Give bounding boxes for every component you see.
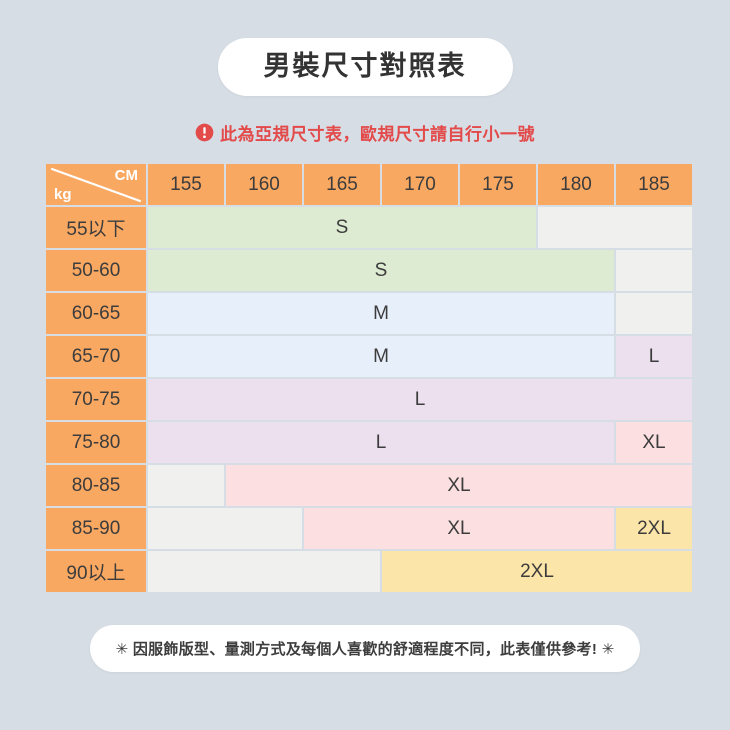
column-header-160: 160	[226, 164, 302, 205]
header-row: CM kg 155160165170175180185	[46, 164, 692, 205]
row-label-90以上: 90以上	[46, 551, 146, 592]
size-cell-empty	[616, 293, 692, 334]
footer-pill: ✳ 因服飾版型、量測方式及每個人喜歡的舒適程度不同，此表僅供參考! ✳	[90, 625, 641, 672]
size-cell-L: L	[616, 336, 692, 377]
size-cell-empty	[538, 207, 692, 248]
row-label-60-65: 60-65	[46, 293, 146, 334]
column-header-165: 165	[304, 164, 380, 205]
table-row: 65-70ML	[46, 336, 692, 377]
notice-banner: 此為亞規尺寸表，歐規尺寸請自行小一號	[195, 120, 535, 145]
table-row: 80-85XL	[46, 465, 692, 506]
size-cell-empty	[616, 250, 692, 291]
exclamation-circle-icon	[195, 123, 214, 142]
size-cell-2XL: 2XL	[382, 551, 692, 592]
size-cell-M: M	[148, 336, 614, 377]
size-cell-L: L	[148, 422, 614, 463]
table-row: 85-90XL2XL	[46, 508, 692, 549]
row-label-80-85: 80-85	[46, 465, 146, 506]
table-head: CM kg 155160165170175180185	[46, 164, 692, 205]
size-cell-empty	[148, 551, 380, 592]
column-header-170: 170	[382, 164, 458, 205]
corner-kg-label: kg	[54, 186, 72, 203]
column-header-155: 155	[148, 164, 224, 205]
row-label-85-90: 85-90	[46, 508, 146, 549]
table-row: 70-75L	[46, 379, 692, 420]
size-cell-empty	[148, 465, 224, 506]
table-row: 60-65M	[46, 293, 692, 334]
size-cell-M: M	[148, 293, 614, 334]
size-cell-2XL: 2XL	[616, 508, 692, 549]
table-body: 55以下S50-60S60-65M65-70ML70-75L75-80LXL80…	[46, 207, 692, 592]
footer-note: ✳ 因服飾版型、量測方式及每個人喜歡的舒適程度不同，此表僅供參考! ✳	[116, 638, 615, 659]
size-chart-page: 男裝尺寸對照表 此為亞規尺寸表，歐規尺寸請自行小一號	[0, 0, 730, 730]
size-cell-XL: XL	[304, 508, 614, 549]
size-cell-XL: XL	[616, 422, 692, 463]
table-row: 90以上2XL	[46, 551, 692, 592]
table-row: 55以下S	[46, 207, 692, 248]
title-pill: 男裝尺寸對照表	[218, 38, 513, 96]
table-row: 75-80LXL	[46, 422, 692, 463]
size-table: CM kg 155160165170175180185 55以下S50-60S6…	[44, 162, 694, 594]
corner-cell-units: CM kg	[46, 164, 146, 205]
size-cell-L: L	[148, 379, 692, 420]
size-table-wrapper: CM kg 155160165170175180185 55以下S50-60S6…	[44, 162, 686, 594]
row-label-70-75: 70-75	[46, 379, 146, 420]
table-row: 50-60S	[46, 250, 692, 291]
size-cell-XL: XL	[226, 465, 692, 506]
column-header-175: 175	[460, 164, 536, 205]
column-header-185: 185	[616, 164, 692, 205]
notice-text: 此為亞規尺寸表，歐規尺寸請自行小一號	[220, 120, 535, 145]
size-cell-S: S	[148, 250, 614, 291]
row-label-75-80: 75-80	[46, 422, 146, 463]
row-label-65-70: 65-70	[46, 336, 146, 377]
size-cell-empty	[148, 508, 302, 549]
column-header-180: 180	[538, 164, 614, 205]
corner-cm-label: CM	[115, 167, 138, 184]
size-cell-S: S	[148, 207, 536, 248]
row-label-50-60: 50-60	[46, 250, 146, 291]
page-title: 男裝尺寸對照表	[264, 50, 467, 82]
row-label-55以下: 55以下	[46, 207, 146, 248]
